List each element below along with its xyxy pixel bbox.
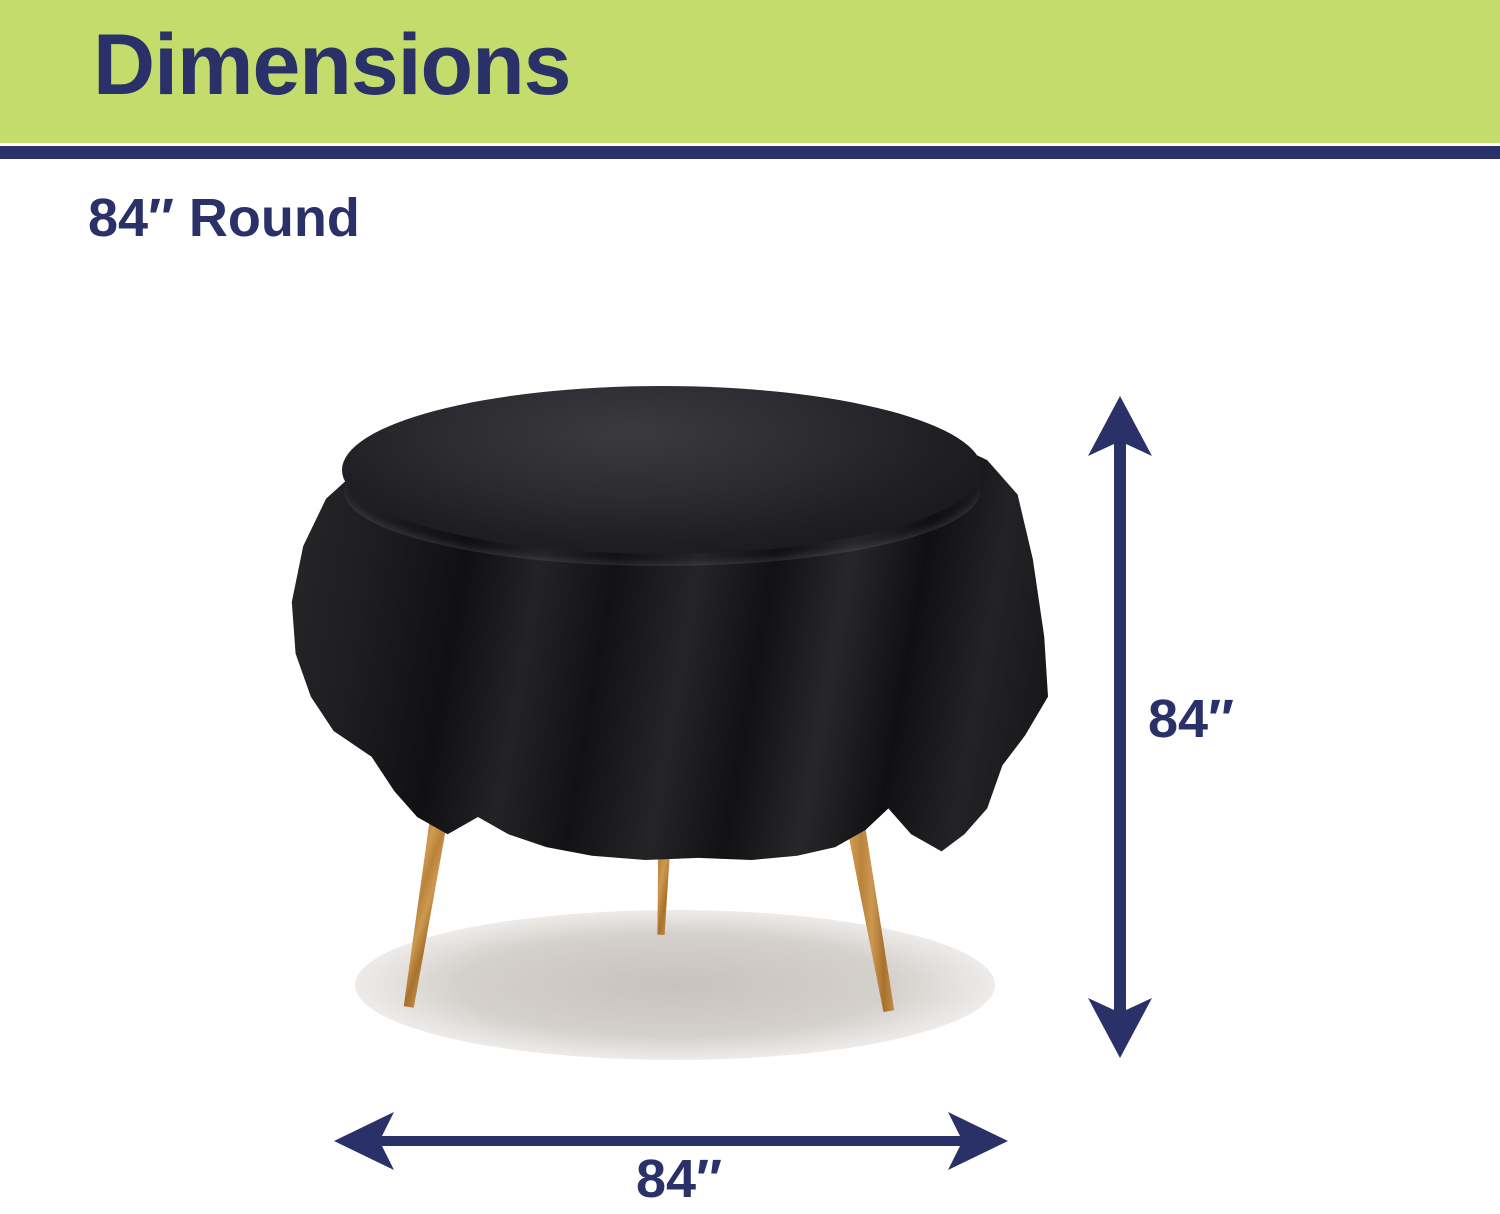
width-dimension-label: 84″	[636, 1152, 722, 1206]
height-dimension-label: 84″	[1148, 692, 1234, 746]
floor-shadow	[355, 910, 995, 1060]
dimensions-infographic: Dimensions 84″ Round 84″ 84″	[0, 0, 1500, 1214]
header-band: Dimensions	[0, 0, 1500, 143]
product-illustration	[270, 370, 1060, 1070]
product-size-subtitle: 84″ Round	[88, 186, 360, 251]
header-divider	[0, 146, 1500, 159]
page-title: Dimensions	[93, 22, 570, 108]
tablecloth-top-surface	[342, 386, 982, 554]
